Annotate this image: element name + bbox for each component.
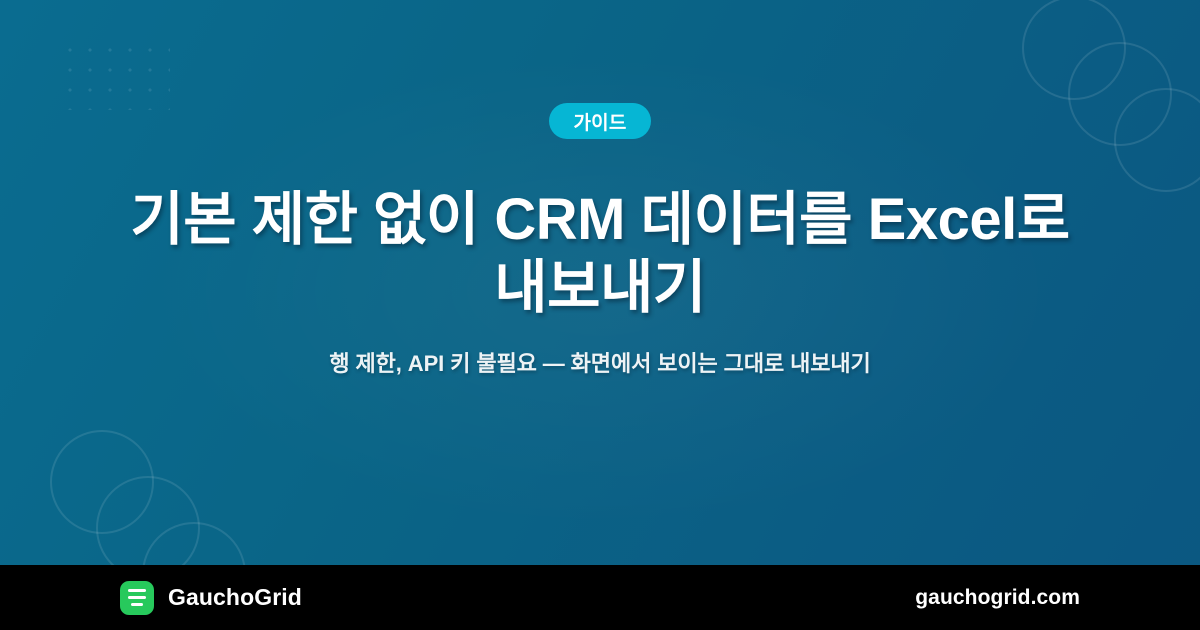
logo-bar — [128, 596, 146, 599]
brand-name: GauchoGrid — [168, 584, 302, 611]
grid-lines-icon — [120, 581, 154, 615]
category-badge: 가이드 — [549, 103, 650, 139]
logo-bar — [131, 603, 143, 606]
brand-lockup: GauchoGrid — [120, 581, 302, 615]
footer-bar: GauchoGrid gauchogrid.com — [0, 565, 1200, 630]
hero-section: 가이드 — [0, 0, 1200, 565]
og-share-card: 가이드 기본 제한 없이 CRM 데이터를 Excel로 내보내기 행 제한, … — [0, 0, 1200, 630]
logo-bar — [128, 589, 146, 592]
site-url: gauchogrid.com — [915, 586, 1080, 610]
